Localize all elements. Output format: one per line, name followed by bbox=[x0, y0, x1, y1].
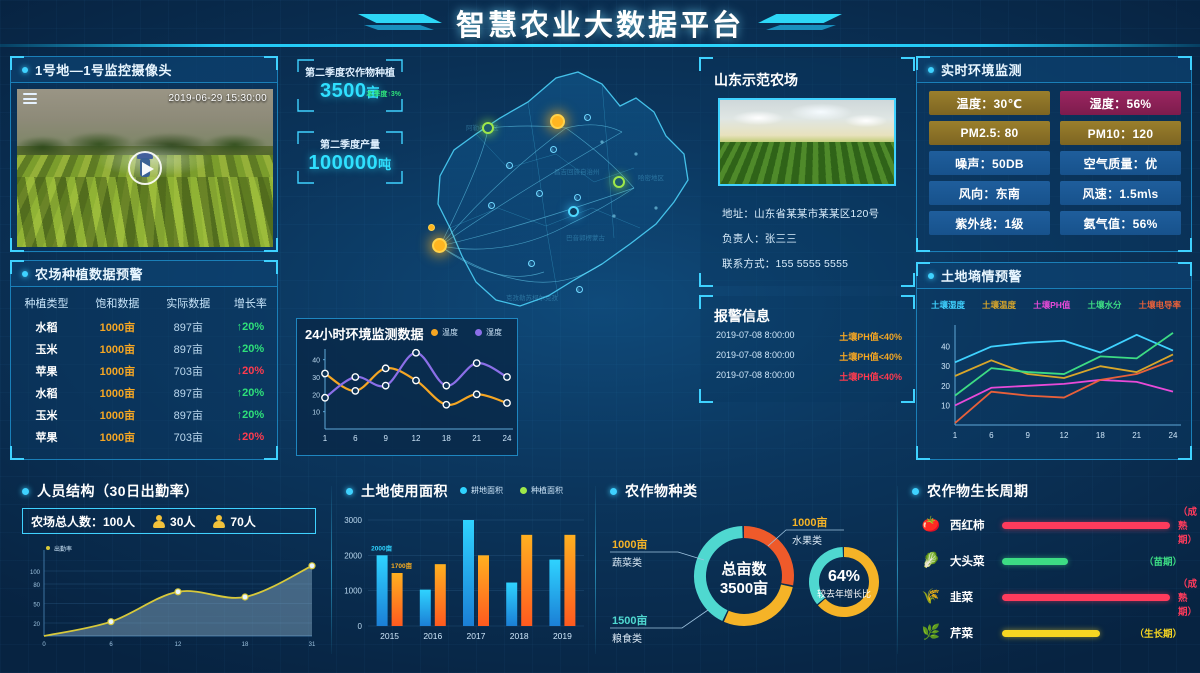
chart24-legend-humidity[interactable]: 湿度 bbox=[475, 327, 502, 338]
soil-legend-item[interactable]: 土壤湿度 bbox=[931, 299, 965, 311]
svg-text:10: 10 bbox=[941, 401, 950, 410]
corner-bracket-icon bbox=[1178, 262, 1192, 276]
cell-saturated: 1000亩 bbox=[82, 338, 153, 360]
svg-text:1: 1 bbox=[953, 431, 958, 440]
celery-icon: 🌿 bbox=[920, 623, 942, 643]
env-metric-cell[interactable]: 风向：东南 bbox=[929, 181, 1050, 205]
svg-text:18: 18 bbox=[442, 434, 451, 443]
crop-progress-bar bbox=[1002, 630, 1100, 637]
svg-text:9: 9 bbox=[383, 434, 388, 443]
soil-panel-title: 土地墒情预警 bbox=[941, 266, 1022, 285]
cell-saturated: 1000亩 bbox=[82, 426, 153, 448]
svg-text:9: 9 bbox=[1025, 431, 1030, 440]
map-node-active[interactable] bbox=[613, 176, 625, 188]
map-svg: 阿勒泰地区 昌吉回族自治州 哈密地区 巴音郭楞蒙古 克孜勒苏柯尔克孜 bbox=[388, 58, 708, 358]
cabbage-icon: 🥬 bbox=[920, 551, 942, 571]
alarm-time: 2019-07-08 8:00:00 bbox=[716, 370, 795, 383]
corner-bracket-icon bbox=[916, 56, 930, 70]
map-node-highlight[interactable] bbox=[432, 238, 447, 253]
corner-bracket-icon bbox=[916, 262, 930, 276]
cell-growth: ↑20% bbox=[224, 382, 277, 404]
svg-text:粮食类: 粮食类 bbox=[612, 632, 642, 645]
table-row[interactable]: 玉米1000亩897亩↑20% bbox=[11, 404, 277, 426]
landuse-legend-planting[interactable]: 种植面积 bbox=[520, 485, 563, 496]
svg-text:18: 18 bbox=[1096, 431, 1105, 440]
map-node-active[interactable] bbox=[568, 206, 579, 217]
header-wing-right-icon bbox=[758, 12, 842, 34]
china-region-map[interactable]: 阿勒泰地区 昌吉回族自治州 哈密地区 巴音郭楞蒙古 克孜勒苏柯尔克孜 bbox=[388, 58, 708, 358]
farm-planting-table: 种植类型 饱和数据 实际数据 增长率 水稻1000亩897亩↑20%玉米1000… bbox=[11, 291, 277, 448]
corner-bracket-icon bbox=[916, 446, 930, 460]
legend-label: 种植面积 bbox=[531, 485, 563, 496]
cell-actual: 703亩 bbox=[153, 360, 224, 382]
alarm-row[interactable]: 2019-07-08 8:00:00土壤PH值<40% bbox=[716, 330, 902, 343]
legend-label: 耕地面积 bbox=[471, 485, 503, 496]
svg-text:2017: 2017 bbox=[467, 631, 486, 641]
svg-text:1000: 1000 bbox=[344, 587, 362, 596]
env-metric-cell[interactable]: 噪声：50DB bbox=[929, 151, 1050, 175]
male-person-icon bbox=[153, 515, 165, 528]
bullet-dot-icon bbox=[22, 488, 29, 495]
cell-saturated: 1000亩 bbox=[82, 404, 153, 426]
soil-legend: 土壤湿度土壤温度土壤PH值土壤水分土壤电导率 bbox=[931, 299, 1181, 311]
svg-text:20: 20 bbox=[312, 392, 320, 399]
env-24h-chart-panel: 24小时环境监测数据 温度 湿度 1020304016912182124 bbox=[296, 318, 518, 456]
map-node[interactable] bbox=[574, 194, 581, 201]
chart24-title: 24小时环境监测数据 bbox=[305, 324, 423, 343]
alarm-row[interactable]: 2019-07-08 8:00:00土壤PH值<40% bbox=[716, 370, 902, 383]
svg-text:40: 40 bbox=[312, 358, 320, 365]
crop-name: 大头菜 bbox=[950, 553, 994, 569]
env-panel-title: 实时环境监测 bbox=[941, 60, 1022, 79]
alarm-message: 土壤PH值<40% bbox=[839, 370, 902, 383]
cell-actual: 703亩 bbox=[153, 426, 224, 448]
camera-crop-rows-overlay bbox=[17, 177, 273, 247]
env-panel-header: 实时环境监测 bbox=[917, 57, 1191, 83]
corner-bracket-icon bbox=[1178, 56, 1192, 70]
svg-text:出勤率: 出勤率 bbox=[54, 545, 72, 553]
env-metric-cell[interactable]: 湿度：56% bbox=[1060, 91, 1181, 115]
svg-text:100: 100 bbox=[30, 570, 41, 576]
farm-planting-alert-panel: 农场种植数据预警 种植类型 饱和数据 实际数据 增长率 水稻1000亩897亩↑… bbox=[10, 260, 278, 460]
crop-growth-row[interactable]: 🌿芹菜（生长期） bbox=[920, 620, 1182, 646]
svg-text:哈密地区: 哈密地区 bbox=[638, 173, 665, 182]
svg-text:12: 12 bbox=[1060, 431, 1069, 440]
svg-text:30: 30 bbox=[941, 362, 950, 371]
col-saturated: 饱和数据 bbox=[82, 291, 153, 316]
crop-name: 韭菜 bbox=[950, 589, 994, 605]
crop-growth-row[interactable]: 🍅西红柿（成熟期） bbox=[920, 512, 1182, 538]
cell-actual: 897亩 bbox=[153, 382, 224, 404]
corner-bracket-icon bbox=[264, 56, 278, 70]
env-metric-cell[interactable]: 紫外线：1级 bbox=[929, 211, 1050, 235]
staff-male: 30人 bbox=[153, 513, 195, 530]
header-divider bbox=[0, 44, 1200, 47]
farm-manager: 负责人：张三三 bbox=[722, 231, 797, 246]
female-person-icon bbox=[213, 515, 225, 528]
land-use-panel: 土地使用面积 耕地面积 种植面积 01000200030002015201620… bbox=[332, 472, 594, 664]
camera-timestamp: 2019-06-29 15:30:00 bbox=[168, 93, 267, 104]
table-row[interactable]: 水稻1000亩897亩↑20% bbox=[11, 382, 277, 404]
camera-panel-header: 1号地—1号监控摄像头 bbox=[11, 57, 277, 83]
svg-text:1: 1 bbox=[323, 434, 328, 443]
svg-text:总亩数: 总亩数 bbox=[721, 560, 767, 578]
farm-photo bbox=[718, 98, 896, 186]
svg-text:1000亩: 1000亩 bbox=[612, 537, 647, 551]
staff-panel-title: 人员结构（30日出勤率） bbox=[37, 481, 199, 501]
cell-saturated: 1000亩 bbox=[82, 360, 153, 382]
env-metric-cell[interactable]: PM10：120 bbox=[1060, 121, 1181, 145]
corner-bracket-icon bbox=[699, 273, 713, 287]
svg-text:1500亩: 1500亩 bbox=[612, 613, 647, 627]
soil-plot: 1020304016912182124 bbox=[929, 321, 1185, 449]
svg-text:0: 0 bbox=[42, 642, 46, 648]
staff-male-count: 30人 bbox=[170, 513, 195, 530]
corner-bracket-icon bbox=[1178, 238, 1192, 252]
map-node[interactable] bbox=[536, 190, 543, 197]
cell-type: 水稻 bbox=[11, 382, 82, 404]
table-row[interactable]: 水稻1000亩897亩↑20% bbox=[11, 316, 277, 338]
farm-table-title: 农场种植数据预警 bbox=[35, 264, 143, 283]
crop-stage: （成熟期） bbox=[1178, 504, 1197, 546]
alarm-message: 土壤PH值<40% bbox=[839, 330, 902, 343]
map-node[interactable] bbox=[550, 146, 557, 153]
demo-farm-panel: 山东示范农场 地址：山东省某某市某某区120号 负责人：张三三 联系方式：155… bbox=[700, 58, 914, 286]
legend-label: 湿度 bbox=[486, 327, 502, 338]
cell-growth: ↓20% bbox=[224, 426, 277, 448]
soil-legend-item[interactable]: 土壤PH值 bbox=[1033, 299, 1070, 311]
croptype-donut-plot: 总亩数3500亩1000亩水果类1000亩蔬菜类1500亩粮食类64%较去年增长… bbox=[596, 504, 896, 664]
alarm-message: 土壤PH值<40% bbox=[839, 350, 902, 363]
chart24-plot: 1020304016912182124 bbox=[297, 343, 519, 455]
cell-type: 苹果 bbox=[11, 426, 82, 448]
svg-text:蔬菜类: 蔬菜类 bbox=[612, 556, 642, 569]
svg-text:18: 18 bbox=[242, 642, 249, 648]
corner-bracket-icon bbox=[901, 389, 915, 403]
svg-text:30: 30 bbox=[312, 375, 320, 382]
map-node[interactable] bbox=[576, 286, 583, 293]
crop-growth-row[interactable]: 🌾韭菜（成熟期） bbox=[920, 584, 1182, 610]
svg-text:6: 6 bbox=[989, 431, 994, 440]
corner-bracket-icon bbox=[264, 446, 278, 460]
svg-text:24: 24 bbox=[503, 434, 512, 443]
dashboard-root: 智慧农业大数据平台 1号地—1号监控摄像头 2019-06-29 15:30:0… bbox=[0, 0, 1200, 673]
svg-text:31: 31 bbox=[309, 642, 316, 648]
svg-text:2016: 2016 bbox=[423, 631, 442, 641]
croptype-panel-title: 农作物种类 bbox=[625, 481, 698, 501]
svg-text:巴音郭楞蒙古: 巴音郭楞蒙古 bbox=[566, 233, 606, 242]
svg-text:50: 50 bbox=[33, 603, 40, 609]
env-metric-cell[interactable]: 温度：30℃ bbox=[929, 91, 1050, 115]
svg-text:2000亩: 2000亩 bbox=[371, 543, 392, 552]
soil-panel-header: 土地墒情预警 bbox=[917, 263, 1191, 289]
table-body: 水稻1000亩897亩↑20%玉米1000亩897亩↑20%苹果1000亩703… bbox=[11, 316, 277, 448]
env-metric-grid: 温度：30℃湿度：56%PM2.5: 80PM10：120噪声：50DB空气质量… bbox=[929, 91, 1181, 235]
crop-progress-bar bbox=[1002, 594, 1170, 601]
cell-type: 玉米 bbox=[11, 404, 82, 426]
crop-type-panel: 农作物种类 总亩数3500亩1000亩水果类1000亩蔬菜类1500亩粮食类64… bbox=[596, 472, 896, 664]
bullet-dot-icon bbox=[346, 488, 353, 495]
cell-growth: ↑20% bbox=[224, 404, 277, 426]
crop-name: 西红柿 bbox=[950, 517, 994, 533]
kpi-number: 100000 bbox=[308, 152, 378, 174]
cell-growth: ↑20% bbox=[224, 338, 277, 360]
leek-icon: 🌾 bbox=[920, 587, 942, 607]
bullet-dot-icon bbox=[610, 488, 617, 495]
crop-stage: （生长期） bbox=[1134, 626, 1182, 640]
tomato-icon: 🍅 bbox=[920, 515, 942, 535]
corner-bracket-icon bbox=[264, 260, 278, 274]
crop-stage: （成熟期） bbox=[1178, 576, 1197, 618]
svg-text:21: 21 bbox=[1132, 431, 1141, 440]
farm-address: 地址：山东省某某市某某区120号 bbox=[722, 206, 879, 221]
landuse-legend-farmland[interactable]: 耕地面积 bbox=[460, 485, 503, 496]
page-title: 智慧农业大数据平台 bbox=[456, 2, 744, 44]
play-icon[interactable] bbox=[128, 151, 162, 185]
svg-text:较去年增长比: 较去年增长比 bbox=[817, 588, 871, 599]
staff-female: 70人 bbox=[213, 513, 255, 530]
crop-progress-bar bbox=[1002, 558, 1068, 565]
map-node[interactable] bbox=[428, 224, 435, 231]
staff-structure-panel: 人员结构（30日出勤率） 农场总人数：100人 30人 70人 20508010… bbox=[8, 472, 330, 664]
croptype-panel-header: 农作物种类 bbox=[596, 472, 896, 501]
alarm-time: 2019-07-08 8:00:00 bbox=[716, 330, 795, 343]
farm-photo-field bbox=[718, 142, 896, 186]
corner-bracket-icon bbox=[10, 260, 24, 274]
svg-text:12: 12 bbox=[412, 434, 421, 443]
crop-growth-panel: 农作物生长周期 🍅西红柿（成熟期）🥬大头菜（苗期）🌾韭菜（成熟期）🌿芹菜（生长期… bbox=[898, 472, 1198, 664]
staff-female-count: 70人 bbox=[230, 513, 255, 530]
svg-text:10: 10 bbox=[312, 410, 320, 417]
svg-text:12: 12 bbox=[175, 642, 182, 648]
svg-text:2018: 2018 bbox=[510, 631, 529, 641]
cell-type: 苹果 bbox=[11, 360, 82, 382]
corner-bracket-icon bbox=[10, 446, 24, 460]
crop-name: 芹菜 bbox=[950, 625, 994, 641]
svg-text:6: 6 bbox=[109, 642, 113, 648]
cell-growth: ↓20% bbox=[224, 360, 277, 382]
svg-text:3500亩: 3500亩 bbox=[720, 579, 768, 597]
svg-text:水果类: 水果类 bbox=[792, 534, 822, 547]
svg-text:80: 80 bbox=[33, 583, 40, 589]
cell-saturated: 1000亩 bbox=[82, 316, 153, 338]
hamburger-menu-icon[interactable] bbox=[23, 93, 37, 104]
svg-text:2019: 2019 bbox=[553, 631, 572, 641]
landuse-bar-plot: 0100020003000201520162017201820192000亩17… bbox=[334, 508, 592, 660]
map-node[interactable] bbox=[506, 162, 513, 169]
map-node-active[interactable] bbox=[482, 122, 494, 134]
corner-bracket-icon bbox=[901, 273, 915, 287]
corner-bracket-icon bbox=[699, 57, 713, 71]
svg-text:0: 0 bbox=[358, 622, 363, 631]
farm-contact: 联系方式：155 5555 5555 bbox=[722, 256, 848, 271]
svg-text:20: 20 bbox=[941, 382, 950, 391]
crop-progress-bar bbox=[1002, 522, 1170, 529]
corner-bracket-icon bbox=[901, 295, 915, 309]
farm-photo-clouds bbox=[720, 100, 894, 140]
alarm-title: 报警信息 bbox=[714, 306, 770, 326]
kpi-number: 3500 bbox=[320, 80, 367, 102]
svg-text:6: 6 bbox=[353, 434, 358, 443]
cell-type: 水稻 bbox=[11, 316, 82, 338]
col-actual: 实际数据 bbox=[153, 291, 224, 316]
camera-video-feed[interactable]: 2019-06-29 15:30:00 bbox=[17, 89, 273, 247]
svg-text:2015: 2015 bbox=[380, 631, 399, 641]
map-node[interactable] bbox=[528, 260, 535, 267]
env-metric-cell[interactable]: 风速：1.5m\s bbox=[1060, 181, 1181, 205]
chart24-legend-temp[interactable]: 温度 bbox=[431, 327, 458, 338]
legend-label: 温度 bbox=[442, 327, 458, 338]
cell-saturated: 1000亩 bbox=[82, 382, 153, 404]
svg-text:1700亩: 1700亩 bbox=[391, 561, 412, 570]
landuse-panel-title: 土地使用面积 bbox=[361, 481, 448, 501]
map-node-highlight[interactable] bbox=[550, 114, 565, 129]
col-type: 种植类型 bbox=[11, 291, 82, 316]
svg-text:20: 20 bbox=[33, 622, 40, 628]
growth-panel-title: 农作物生长周期 bbox=[927, 481, 1029, 501]
env-metric-cell[interactable]: 空气质量：优 bbox=[1060, 151, 1181, 175]
camera-panel-title: 1号地—1号监控摄像头 bbox=[35, 60, 172, 79]
soil-legend-item[interactable]: 土壤水分 bbox=[1087, 299, 1121, 311]
svg-text:40: 40 bbox=[941, 343, 950, 352]
env-metric-cell[interactable]: 氨气值：56% bbox=[1060, 211, 1181, 235]
alarm-time: 2019-07-08 8:00:00 bbox=[716, 350, 795, 363]
cell-growth: ↑20% bbox=[224, 316, 277, 338]
svg-text:克孜勒苏柯尔克孜: 克孜勒苏柯尔克孜 bbox=[506, 293, 559, 302]
cell-actual: 897亩 bbox=[153, 404, 224, 426]
env-metric-cell[interactable]: PM2.5: 80 bbox=[929, 121, 1050, 145]
soil-legend-item[interactable]: 土壤温度 bbox=[982, 299, 1016, 311]
svg-text:64%: 64% bbox=[828, 568, 860, 585]
table-header-row: 种植类型 饱和数据 实际数据 增长率 bbox=[11, 291, 277, 316]
growth-panel-header: 农作物生长周期 bbox=[898, 472, 1198, 501]
cell-actual: 897亩 bbox=[153, 338, 224, 360]
realtime-env-panel: 实时环境监测 温度：30℃湿度：56%PM2.5: 80PM10：120噪声：5… bbox=[916, 56, 1192, 252]
header-wing-left-icon bbox=[358, 12, 442, 34]
farm-info-title: 山东示范农场 bbox=[714, 70, 798, 90]
svg-text:21: 21 bbox=[472, 434, 481, 443]
staff-attendance-plot: 20508010006121831出勤率 bbox=[20, 542, 320, 654]
corner-bracket-icon bbox=[699, 389, 713, 403]
corner-bracket-icon bbox=[901, 57, 915, 71]
table-row[interactable]: 苹果1000亩703亩↓20% bbox=[11, 426, 277, 448]
staff-summary-box: 农场总人数：100人 30人 70人 bbox=[22, 508, 316, 534]
farm-table-header: 农场种植数据预警 bbox=[11, 261, 277, 287]
corner-bracket-icon bbox=[699, 295, 713, 309]
alarm-panel: 报警信息 2019-07-08 8:00:00土壤PH值<40%2019-07-… bbox=[700, 296, 914, 402]
svg-text:2000: 2000 bbox=[344, 551, 362, 560]
svg-text:24: 24 bbox=[1169, 431, 1178, 440]
table-row[interactable]: 玉米1000亩897亩↑20% bbox=[11, 338, 277, 360]
crop-stage: （苗期） bbox=[1144, 554, 1182, 568]
col-growth: 增长率 bbox=[224, 291, 277, 316]
soil-legend-item[interactable]: 土壤电导率 bbox=[1138, 299, 1181, 311]
camera-panel: 1号地—1号监控摄像头 2019-06-29 15:30:00 bbox=[10, 56, 278, 252]
map-node[interactable] bbox=[584, 114, 591, 121]
soil-moisture-panel: 土地墒情预警 土壤湿度土壤温度土壤PH值土壤水分土壤电导率 1020304016… bbox=[916, 262, 1192, 460]
corner-bracket-icon bbox=[10, 56, 24, 70]
crop-growth-row[interactable]: 🥬大头菜（苗期） bbox=[920, 548, 1182, 574]
map-node[interactable] bbox=[488, 202, 495, 209]
bullet-dot-icon bbox=[912, 488, 919, 495]
alarm-row[interactable]: 2019-07-08 8:00:00土壤PH值<40% bbox=[716, 350, 902, 363]
cell-type: 玉米 bbox=[11, 338, 82, 360]
table-row[interactable]: 苹果1000亩703亩↓20% bbox=[11, 360, 277, 382]
svg-text:昌吉回族自治州: 昌吉回族自治州 bbox=[554, 167, 600, 176]
svg-text:1000亩: 1000亩 bbox=[792, 515, 827, 529]
corner-bracket-icon bbox=[916, 238, 930, 252]
staff-total: 农场总人数：100人 bbox=[31, 513, 135, 530]
staff-panel-header: 人员结构（30日出勤率） bbox=[8, 472, 330, 501]
svg-text:3000: 3000 bbox=[344, 516, 362, 525]
cell-actual: 897亩 bbox=[153, 316, 224, 338]
page-header: 智慧农业大数据平台 bbox=[0, 0, 1200, 46]
